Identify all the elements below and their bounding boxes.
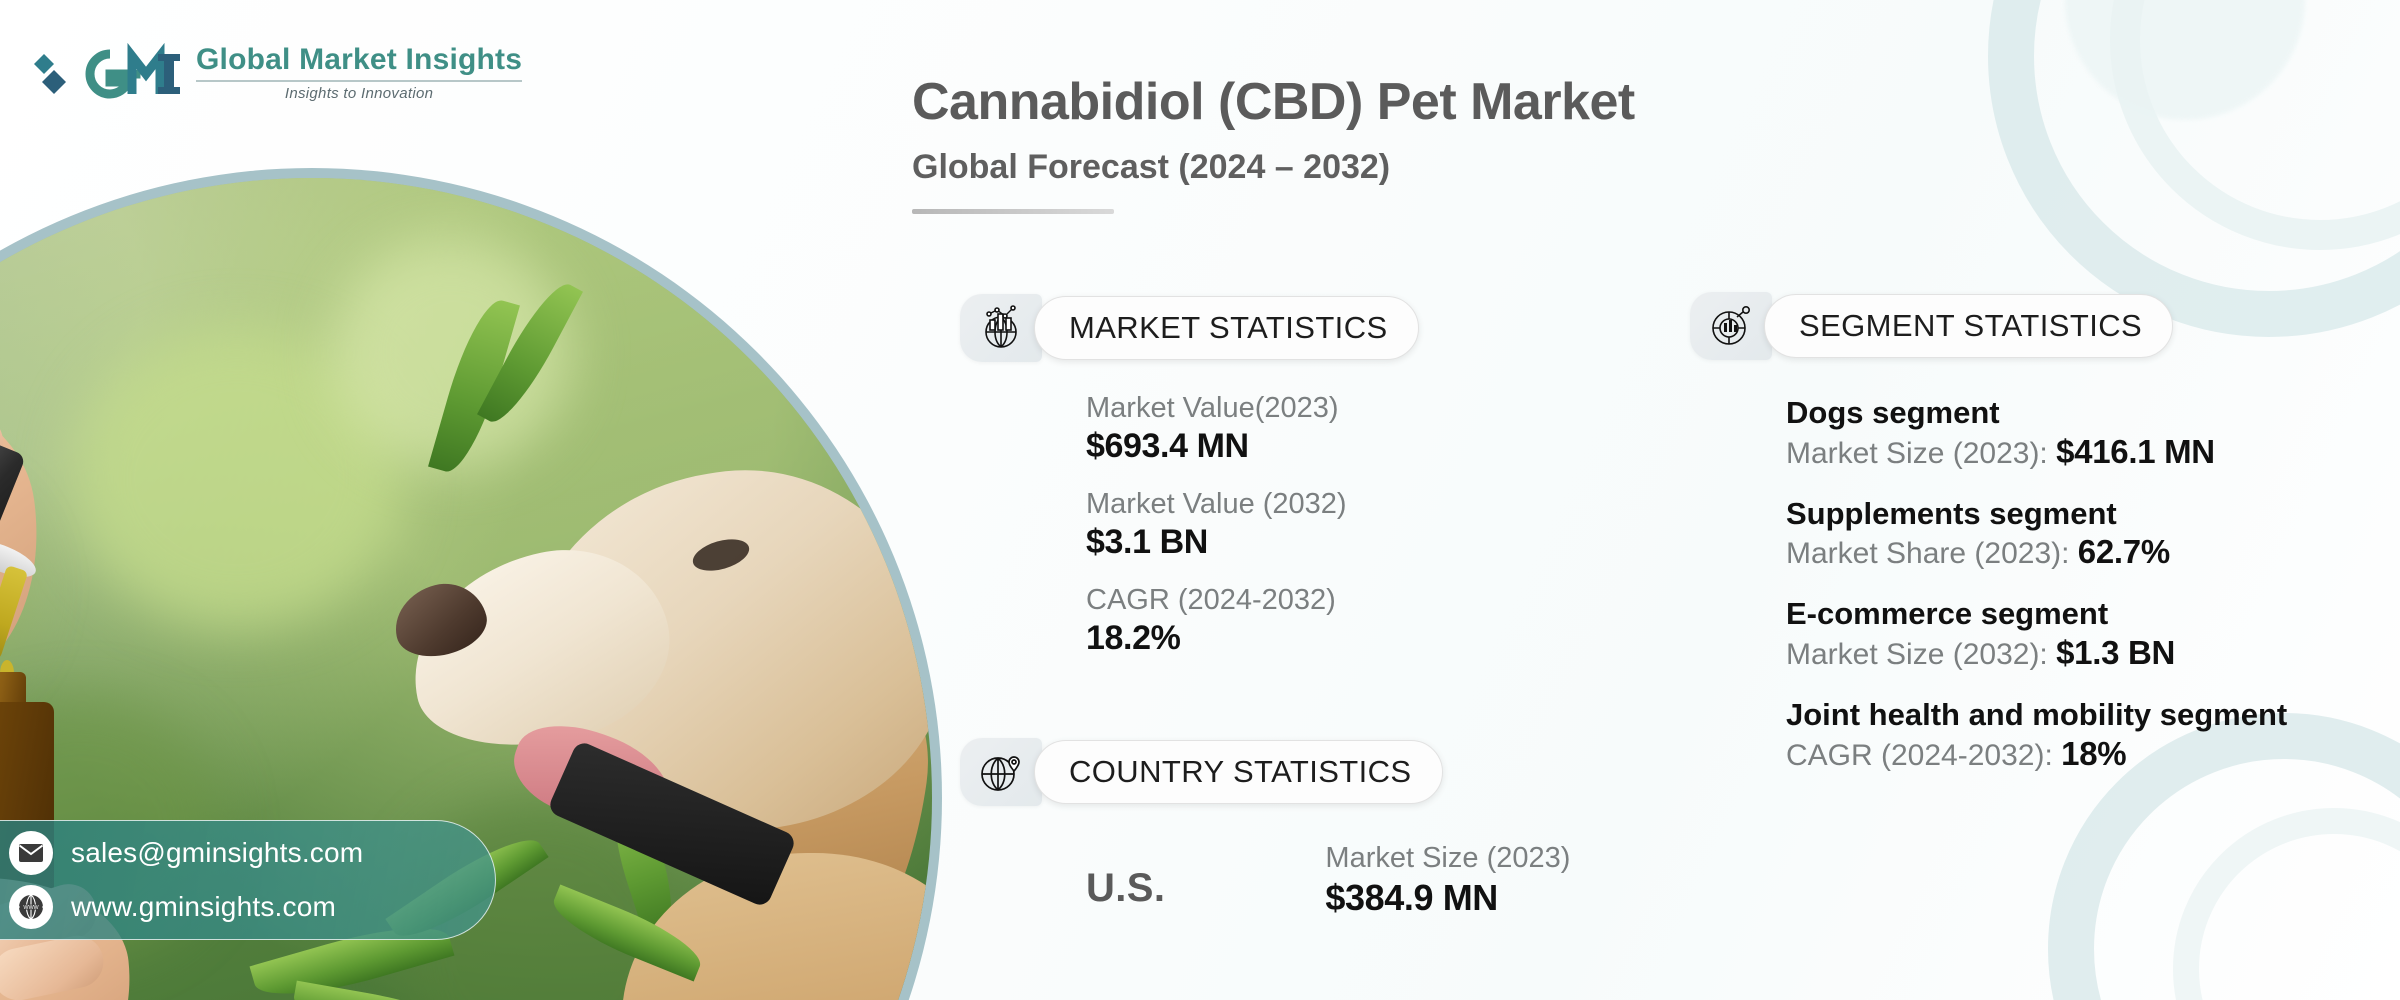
brand-logo[interactable]: Global Market Insights Insights to Innov… xyxy=(32,42,522,104)
brand-tagline: Insights to Innovation xyxy=(196,85,522,102)
globe-pin-icon xyxy=(960,738,1042,806)
segment-name: Dogs segment xyxy=(1786,396,2346,431)
page-title: Cannabidiol (CBD) Pet Market xyxy=(912,72,1635,132)
globe-www-icon: WWW xyxy=(9,885,53,929)
contact-email-row[interactable]: sales@gminsights.com xyxy=(9,831,495,875)
segment-item: Dogs segment Market Size (2023): $416.1 … xyxy=(1786,396,2346,471)
market-statistics-label: MARKET STATISTICS xyxy=(1034,296,1419,360)
market-value-2032-label: Market Value (2032) xyxy=(1086,488,1347,521)
brand-name: Global Market Insights xyxy=(196,44,522,76)
market-value-2023-value: $693.4 MN xyxy=(1086,427,1347,466)
gmi-logo-icon xyxy=(32,42,182,104)
country-statistics-body: U.S. Market Size (2023) $384.9 MN xyxy=(1086,842,1570,919)
segment-metric-label: Market Size (2023): xyxy=(1786,437,2056,470)
market-value-2032-value: $3.1 BN xyxy=(1086,523,1347,562)
envelope-icon xyxy=(9,831,53,875)
segment-item: Joint health and mobility segment CAGR (… xyxy=(1786,698,2346,773)
segment-metric-value: 18% xyxy=(2061,735,2126,772)
segment-metric-value: $416.1 MN xyxy=(2056,433,2215,470)
contact-website: www.gminsights.com xyxy=(71,891,336,923)
segment-statistics-body: Dogs segment Market Size (2023): $416.1 … xyxy=(1786,396,2346,799)
segment-metric-label: Market Share (2023): xyxy=(1786,537,2078,570)
globe-bar-chart-icon xyxy=(960,294,1042,362)
country-market-size-label: Market Size (2023) xyxy=(1325,842,1570,875)
donut-chart-icon xyxy=(1690,292,1772,360)
segment-name: Supplements segment xyxy=(1786,497,2346,532)
title-underline xyxy=(912,209,1114,214)
logo-divider xyxy=(196,80,522,82)
segment-statistics-header[interactable]: SEGMENT STATISTICS xyxy=(1690,292,2173,360)
country-statistics-label: COUNTRY STATISTICS xyxy=(1034,740,1443,804)
cagr-value: 18.2% xyxy=(1086,619,1347,658)
country-market-size-value: $384.9 MN xyxy=(1325,877,1570,919)
segment-name: E-commerce segment xyxy=(1786,597,2346,632)
segment-item: E-commerce segment Market Size (2032): $… xyxy=(1786,597,2346,672)
page-subtitle: Global Forecast (2024 – 2032) xyxy=(912,148,1635,187)
segment-item: Supplements segment Market Share (2023):… xyxy=(1786,497,2346,572)
svg-text:WWW: WWW xyxy=(23,905,39,911)
infographic-canvas: Global Market Insights Insights to Innov… xyxy=(0,0,2400,1000)
segment-metric-label: Market Size (2032): xyxy=(1786,638,2056,671)
title-block: Cannabidiol (CBD) Pet Market Global Fore… xyxy=(912,72,1635,214)
cagr-label: CAGR (2024-2032) xyxy=(1086,584,1347,617)
segment-metric-label: CAGR (2024-2032): xyxy=(1786,739,2061,772)
segment-name: Joint health and mobility segment xyxy=(1786,698,2346,733)
contact-email: sales@gminsights.com xyxy=(71,837,363,869)
country-statistics-header[interactable]: COUNTRY STATISTICS xyxy=(960,738,1443,806)
hand-holding-dropper xyxy=(0,369,57,708)
market-value-2023-label: Market Value(2023) xyxy=(1086,392,1347,425)
market-statistics-body: Market Value(2023) $693.4 MN Market Valu… xyxy=(1086,392,1347,680)
segment-metric-value: 62.7% xyxy=(2078,533,2170,570)
segment-statistics-label: SEGMENT STATISTICS xyxy=(1764,294,2173,358)
market-statistics-header[interactable]: MARKET STATISTICS xyxy=(960,294,1419,362)
contact-bar: sales@gminsights.com WWW www.gminsights.… xyxy=(0,820,496,940)
segment-metric-value: $1.3 BN xyxy=(2056,634,2175,671)
country-name: U.S. xyxy=(1086,842,1165,911)
contact-website-row[interactable]: WWW www.gminsights.com xyxy=(9,885,495,929)
